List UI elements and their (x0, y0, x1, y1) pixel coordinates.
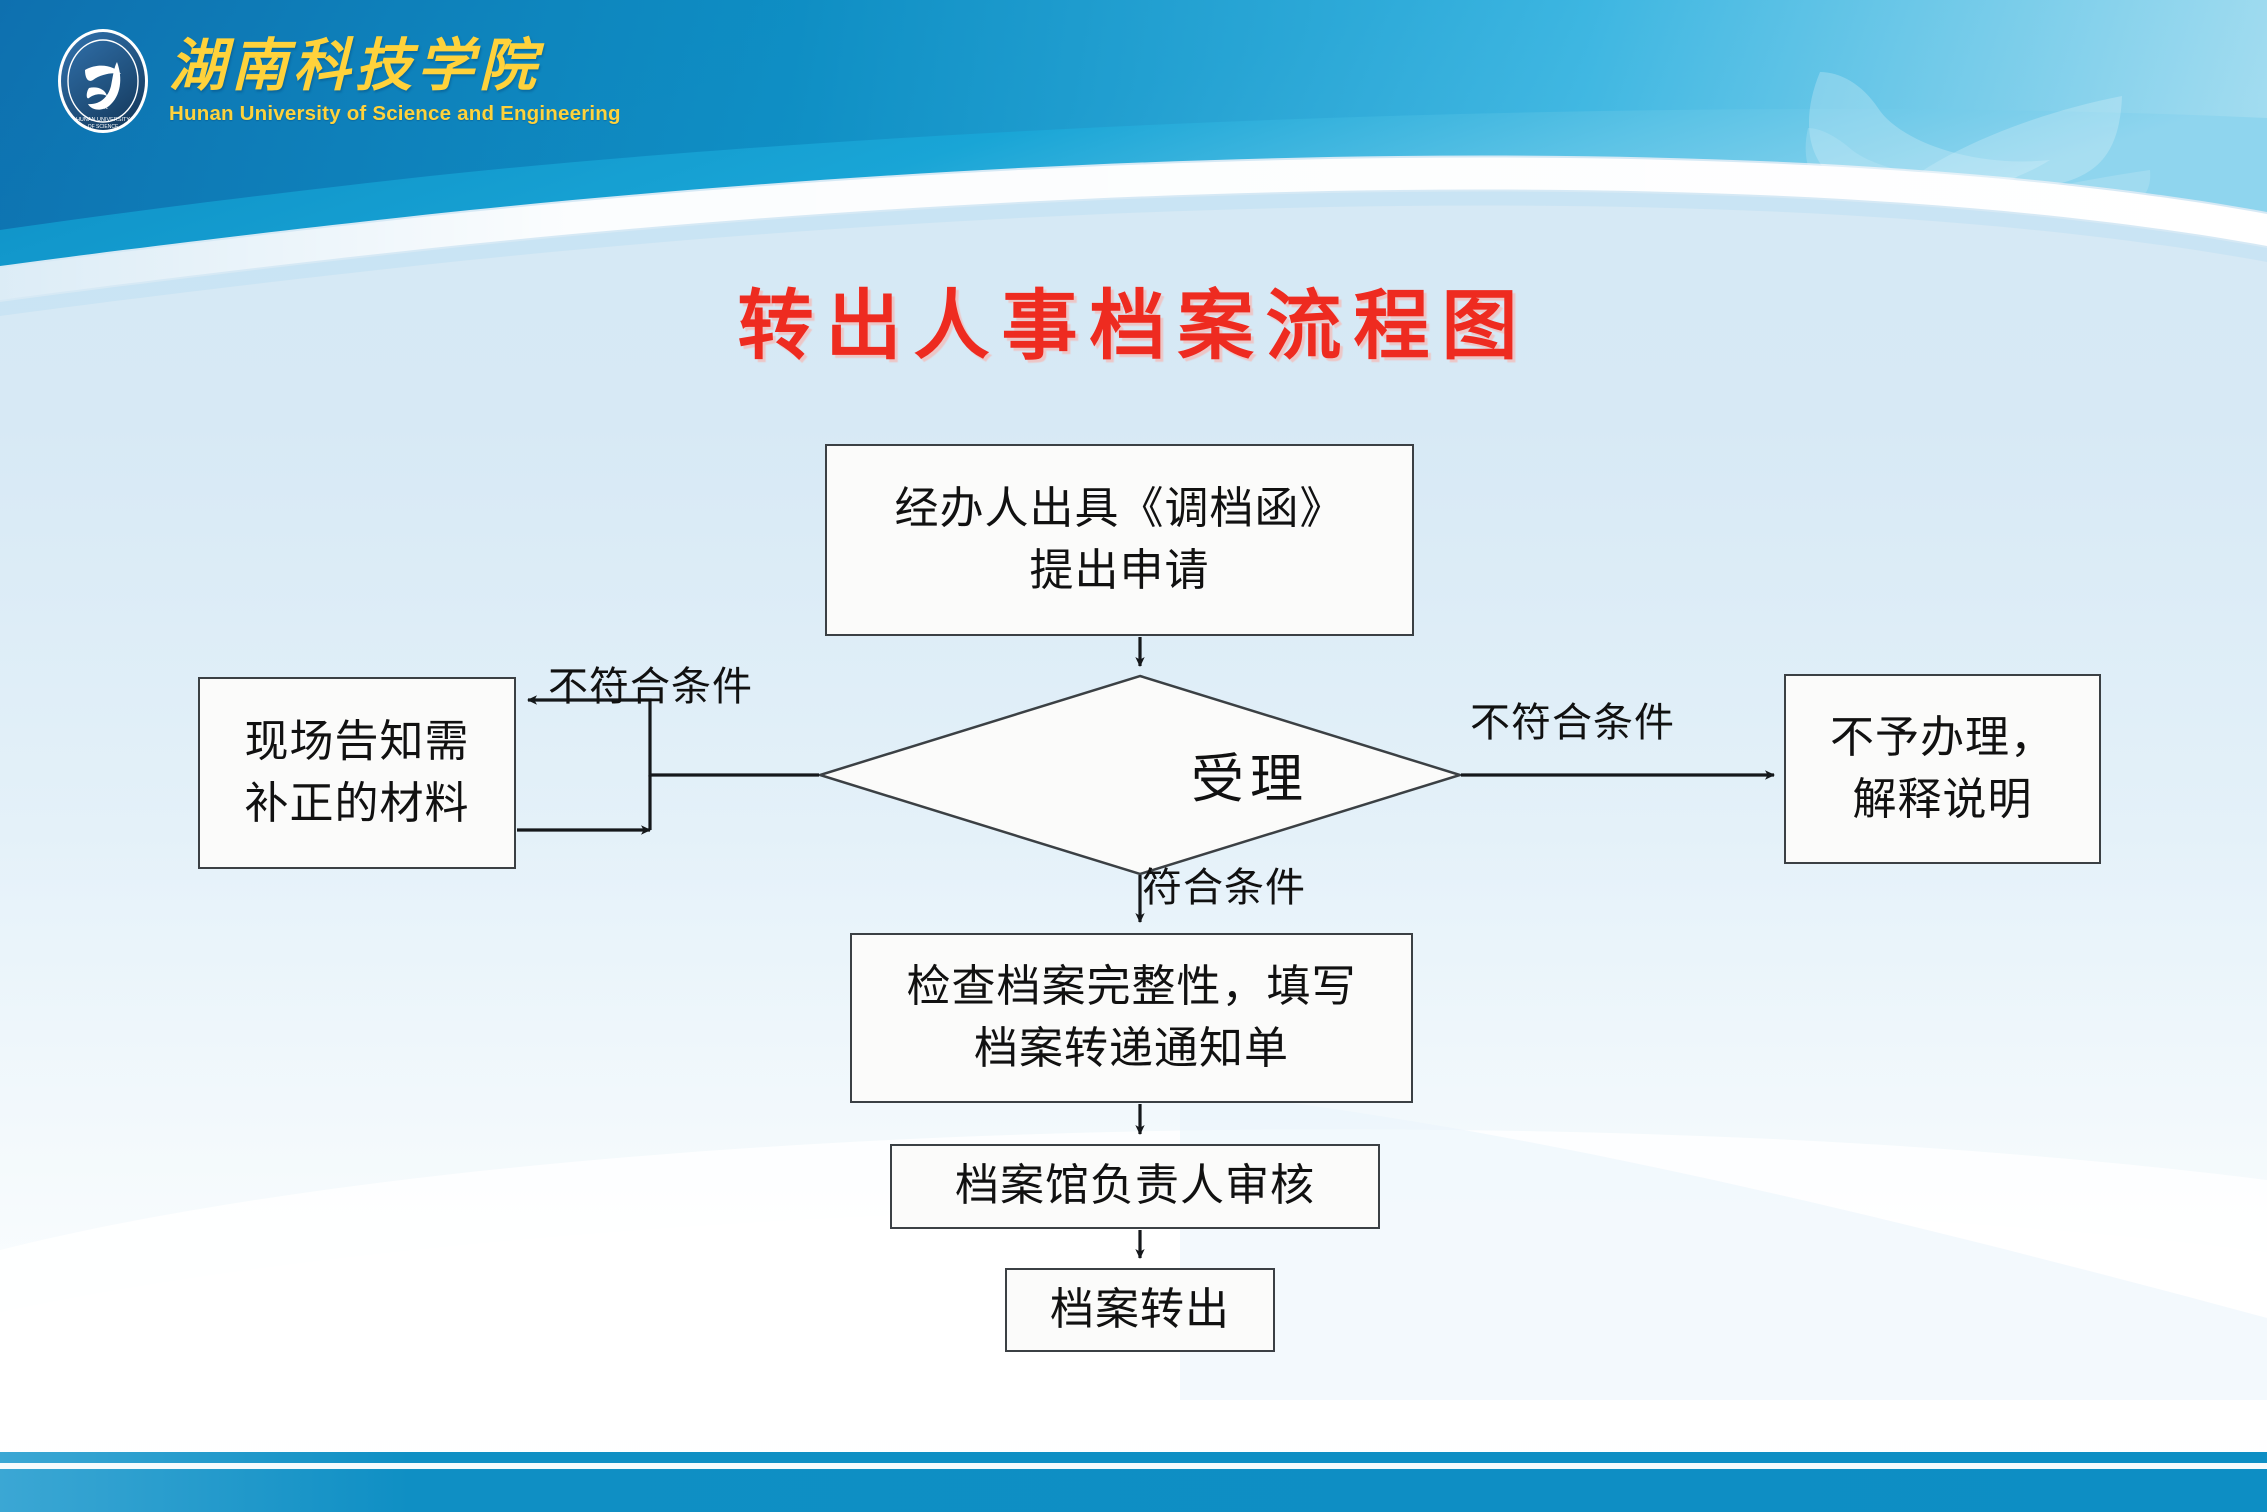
flow-node-accept-label: 受理 (940, 712, 1560, 837)
flow-node-archive-director-review[interactable]: 档案馆负责人审核 (890, 1144, 1380, 1229)
flow-node-reject[interactable]: 不予办理， 解释说明 (1784, 674, 2101, 864)
flow-node-check-line1: 检查档案完整性，填写 (907, 956, 1357, 1018)
flowchart: 经办人出具《调档函》 提出申请 现场告知需 补正的材料 不予办理， 解释说明 检… (0, 0, 2267, 1512)
flow-node-left-line2: 补正的材料 (245, 773, 470, 835)
flow-node-out-label: 档案转出 (1050, 1279, 1230, 1341)
slide-canvas: HUNAN UNIVERSITY OF SCIENCE 1941 湖南科技学院 … (0, 0, 2267, 1512)
edge-label-not-qualified-left: 不符合条件 (548, 654, 753, 712)
flow-node-left-line1: 现场告知需 (245, 711, 470, 773)
flow-node-apply[interactable]: 经办人出具《调档函》 提出申请 (825, 444, 1414, 636)
flow-node-right-line2: 解释说明 (1853, 769, 2033, 831)
flow-node-check-completeness[interactable]: 检查档案完整性，填写 档案转递通知单 (850, 933, 1413, 1103)
edge-label-qualified: 符合条件 (1142, 855, 1306, 913)
flow-node-archive-transfer-out[interactable]: 档案转出 (1005, 1268, 1275, 1352)
flow-node-apply-line1: 经办人出具《调档函》 (895, 478, 1345, 540)
flow-node-notify-supplement[interactable]: 现场告知需 补正的材料 (198, 677, 516, 869)
flow-node-audit-label: 档案馆负责人审核 (955, 1155, 1315, 1217)
flow-node-right-line1: 不予办理， (1830, 707, 2055, 769)
flow-node-apply-line2: 提出申请 (1030, 540, 1210, 602)
edge-label-not-qualified-right: 不符合条件 (1470, 690, 1675, 748)
flow-node-check-line2: 档案转递通知单 (974, 1018, 1289, 1080)
